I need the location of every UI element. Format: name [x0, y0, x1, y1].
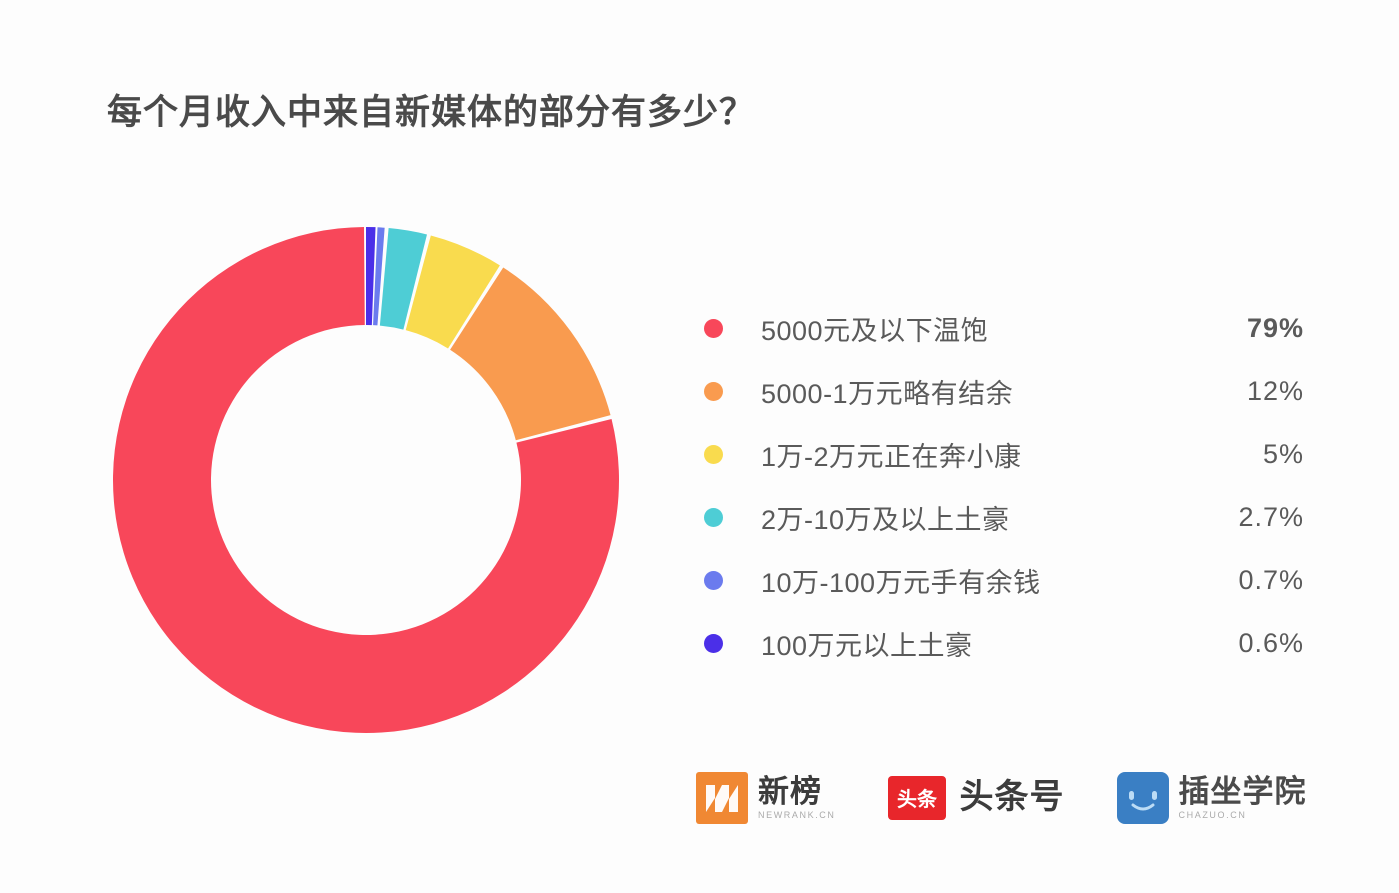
legend-item[interactable]: 5000-1万元略有结余12%	[704, 360, 1304, 423]
legend-item-value: 5%	[1196, 439, 1304, 470]
legend-color-swatch	[704, 508, 723, 527]
legend-color-swatch	[704, 445, 723, 464]
toutiao-logo-icon: 头条	[888, 776, 946, 820]
legend-color-swatch	[704, 319, 723, 338]
svg-text:头条: 头条	[897, 787, 938, 811]
logo-chazuo: 插坐学院 CHAZUO.CN	[1117, 772, 1307, 824]
legend-item-value: 79%	[1196, 313, 1304, 344]
legend-item-label: 10万-100万元手有余钱	[761, 561, 1196, 600]
logo-newrank-name: 新榜	[758, 776, 836, 809]
legend-item[interactable]: 1万-2万元正在奔小康5%	[704, 423, 1304, 486]
logo-newrank: 新榜 NEWRANK.CN	[696, 772, 836, 824]
newrank-logo-icon	[696, 772, 748, 824]
logo-newrank-url: NEWRANK.CN	[758, 810, 836, 820]
donut-slice-group	[113, 227, 619, 733]
donut-chart	[108, 222, 624, 738]
donut-chart-svg	[108, 222, 624, 738]
logo-chazuo-name: 插坐学院	[1179, 776, 1307, 809]
legend-color-swatch	[704, 382, 723, 401]
legend-item[interactable]: 5000元及以下温饱79%	[704, 297, 1304, 360]
legend-item-value: 2.7%	[1196, 502, 1304, 533]
legend-item-value: 0.7%	[1196, 565, 1304, 596]
logo-toutiao-name: 头条号	[960, 780, 1065, 816]
legend-item-label: 5000元及以下温饱	[761, 309, 1196, 348]
legend-item-label: 100万元以上土豪	[761, 624, 1196, 663]
legend-item-label: 1万-2万元正在奔小康	[761, 435, 1196, 474]
footer-logo-strip: 新榜 NEWRANK.CN 头条 头条号 插坐学院 CHAZUO.CN	[696, 772, 1307, 824]
legend-item-label: 2万-10万及以上土豪	[761, 498, 1196, 537]
legend-item-value: 12%	[1196, 376, 1304, 407]
chazuo-logo-icon	[1117, 772, 1169, 824]
legend-item-label: 5000-1万元略有结余	[761, 372, 1196, 411]
logo-chazuo-url: CHAZUO.CN	[1179, 810, 1307, 820]
chart-legend: 5000元及以下温饱79%5000-1万元略有结余12%1万-2万元正在奔小康5…	[704, 297, 1304, 675]
legend-color-swatch	[704, 634, 723, 653]
legend-item[interactable]: 100万元以上土豪0.6%	[704, 612, 1304, 675]
legend-item-value: 0.6%	[1196, 628, 1304, 659]
legend-item[interactable]: 10万-100万元手有余钱0.7%	[704, 549, 1304, 612]
page-title: 每个月收入中来自新媒体的部分有多少？	[107, 84, 755, 135]
logo-toutiao: 头条 头条号	[888, 776, 1065, 820]
legend-item[interactable]: 2万-10万及以上土豪2.7%	[704, 486, 1304, 549]
legend-color-swatch	[704, 571, 723, 590]
